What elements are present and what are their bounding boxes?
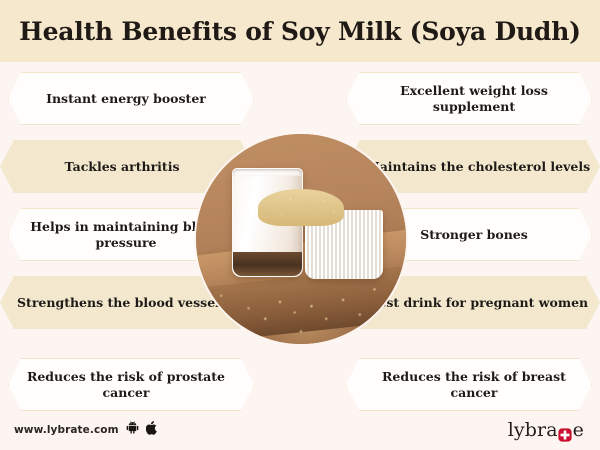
- brand-text-end: e: [573, 419, 584, 441]
- benefit-label: Instant energy booster: [9, 91, 253, 106]
- android-icon[interactable]: [126, 421, 139, 439]
- benefit-item-right-5[interactable]: Reduces the risk of breast cancer: [346, 358, 592, 411]
- benefit-item-left-1[interactable]: Instant energy booster: [8, 72, 254, 125]
- medical-cross-icon: [558, 425, 572, 439]
- apple-icon[interactable]: [146, 421, 158, 440]
- benefit-item-right-1[interactable]: Excellent weight loss supplement: [346, 72, 592, 125]
- footer-left-group: www.lybrate.com: [14, 421, 158, 440]
- poster-header: Health Benefits of Soy Milk (Soya Dudh): [0, 0, 600, 62]
- page-title: Health Benefits of Soy Milk (Soya Dudh): [19, 17, 581, 46]
- benefit-item-left-5[interactable]: Reduces the risk of prostate cancer: [8, 358, 254, 411]
- brand-text-start: lybra: [508, 419, 558, 441]
- poster-footer: www.lybrate.com: [0, 410, 600, 450]
- benefit-label: Reduces the risk of prostate cancer: [9, 369, 253, 400]
- lybrate-logo[interactable]: lybra e: [508, 419, 584, 441]
- scattered-soybeans: [196, 134, 406, 344]
- infographic-poster: Health Benefits of Soy Milk (Soya Dudh) …: [0, 0, 600, 450]
- benefit-label: Excellent weight loss supplement: [347, 83, 591, 114]
- website-url[interactable]: www.lybrate.com: [14, 424, 119, 436]
- benefit-label: Reduces the risk of breast cancer: [347, 369, 591, 400]
- photo-background: [196, 134, 406, 344]
- soy-milk-photo: [196, 134, 406, 344]
